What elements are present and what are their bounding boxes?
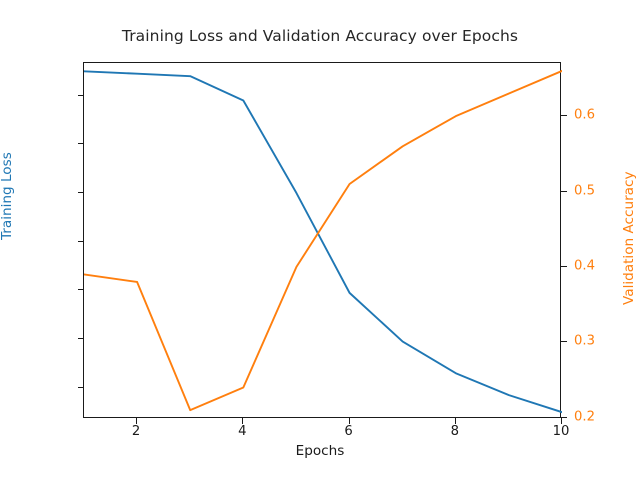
- plot-area: [83, 62, 561, 418]
- x-axis-tick-label: 8: [451, 424, 459, 439]
- y-axis-right-tick-label: 0.6: [574, 108, 595, 123]
- y-axis-right-tick-label: 0.3: [574, 334, 595, 349]
- y-axis-left-label: Training Loss: [0, 152, 15, 240]
- y-axis-right-tick-label: 0.4: [574, 258, 595, 273]
- x-axis-label: Epochs: [0, 443, 640, 459]
- y-axis-right-tick-label: 0.5: [574, 183, 595, 198]
- x-axis-tick-label: 10: [553, 424, 570, 439]
- x-axis-tick-label: 2: [132, 424, 140, 439]
- chart-figure: Training Loss and Validation Accuracy ov…: [0, 0, 640, 480]
- plot-lines: [84, 63, 562, 419]
- x-axis-tick-label: 4: [238, 424, 246, 439]
- chart-title: Training Loss and Validation Accuracy ov…: [0, 27, 640, 45]
- y-axis-right-tick-label: 0.2: [574, 409, 595, 424]
- line-validation-accuracy: [84, 71, 562, 410]
- line-training-loss: [84, 71, 562, 412]
- x-axis-tick-label: 6: [344, 424, 352, 439]
- y-axis-right-label: Validation Accuracy: [621, 171, 637, 305]
